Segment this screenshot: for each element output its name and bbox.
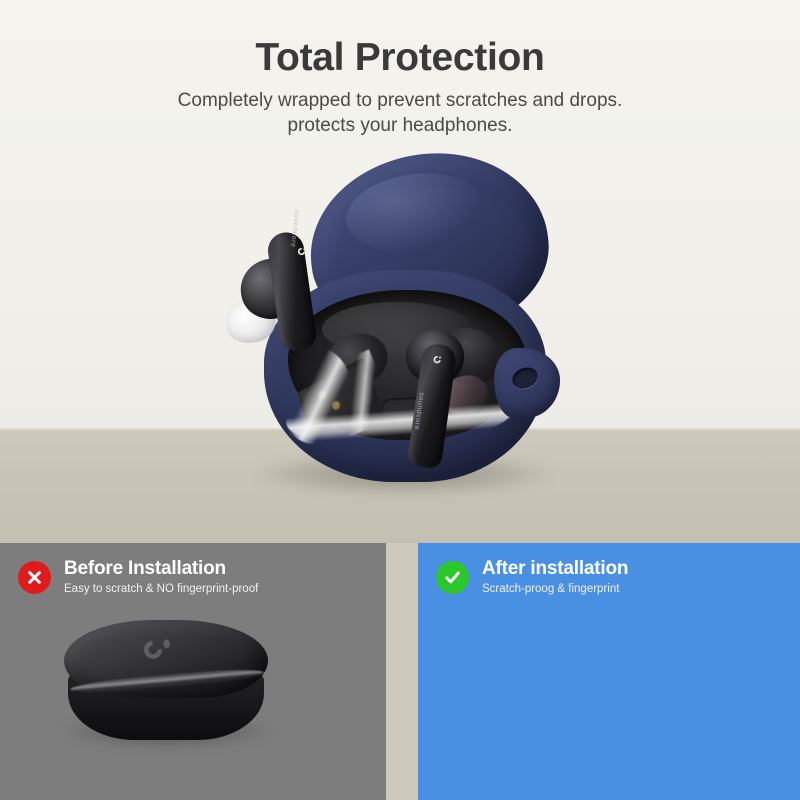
- x-mark-glyph: [24, 567, 45, 588]
- check-mark-glyph: [442, 567, 463, 588]
- soundcore-logo-icon: [295, 245, 307, 257]
- product-marketing-image: Total Protection Completely wrapped to p…: [0, 0, 800, 800]
- before-header: Before Installation Easy to scratch & NO…: [0, 557, 386, 597]
- soundcore-logo-glyph: [431, 353, 443, 365]
- after-title: After installation: [482, 557, 628, 580]
- soundcore-logo-glyph: [295, 245, 307, 257]
- page-subtitle: Completely wrapped to prevent scratches …: [0, 88, 800, 138]
- before-title: Before Installation: [64, 557, 258, 580]
- panel-after-installation: After installation Scratch-proog & finge…: [418, 543, 800, 800]
- soundcore-logo-icon: [141, 636, 186, 661]
- after-subtitle: Scratch-proog & fingerprint: [482, 581, 628, 597]
- before-subtitle: Easy to scratch & NO fingerprint-proof: [64, 581, 258, 597]
- x-mark-icon: [18, 561, 51, 594]
- subtitle-line-1: Completely wrapped to prevent scratches …: [0, 88, 800, 113]
- comparison-section: Before Installation Easy to scratch & NO…: [0, 543, 800, 800]
- hero-product-image: soundcore soundcore: [236, 152, 566, 517]
- check-mark-icon: [436, 561, 469, 594]
- before-header-text: Before Installation Easy to scratch & NO…: [64, 557, 258, 597]
- page-title: Total Protection: [0, 36, 800, 80]
- panel-before-installation: Before Installation Easy to scratch & NO…: [0, 543, 386, 800]
- hero-section: Total Protection Completely wrapped to p…: [0, 0, 800, 543]
- before-product-image: [58, 618, 276, 748]
- subtitle-line-2: protects your headphones.: [0, 113, 800, 138]
- after-header-text: After installation Scratch-proog & finge…: [482, 557, 628, 597]
- earbud-left-stem: [266, 230, 318, 352]
- soundcore-logo-icon: [431, 353, 443, 365]
- soundcore-logo-glyph: [141, 636, 186, 661]
- after-header: After installation Scratch-proog & finge…: [418, 557, 800, 597]
